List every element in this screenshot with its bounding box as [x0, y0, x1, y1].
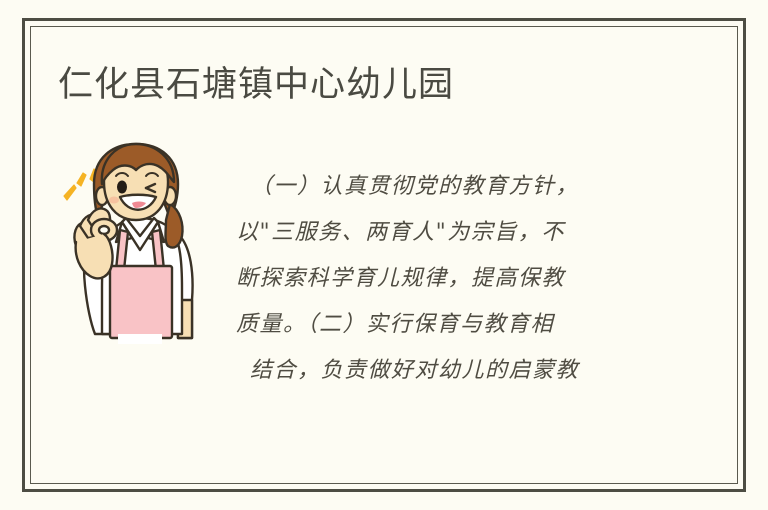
body-line: 断探索科学育儿规律，提高保教	[236, 256, 660, 302]
body-line: 以"三服务、两育人"为宗旨，不	[236, 210, 660, 256]
body-line: 结合，负责做好对幼儿的启蒙教	[236, 348, 660, 394]
body-line: 质量。（二）实行保育与教育相	[236, 302, 660, 348]
teacher-illustration	[58, 138, 208, 350]
ok-hand-icon	[74, 208, 117, 278]
sparkle-icon	[64, 169, 97, 200]
body-line: （一）认真贯彻党的教育方针，	[236, 164, 660, 210]
poster-page: 仁化县石塘镇中心幼儿园	[0, 0, 768, 510]
page-title: 仁化县石塘镇中心幼儿园	[58, 62, 454, 108]
body-paragraph: （一）认真贯彻党的教育方针， 以"三服务、两育人"为宗旨，不 断探索科学育儿规律…	[236, 164, 660, 394]
